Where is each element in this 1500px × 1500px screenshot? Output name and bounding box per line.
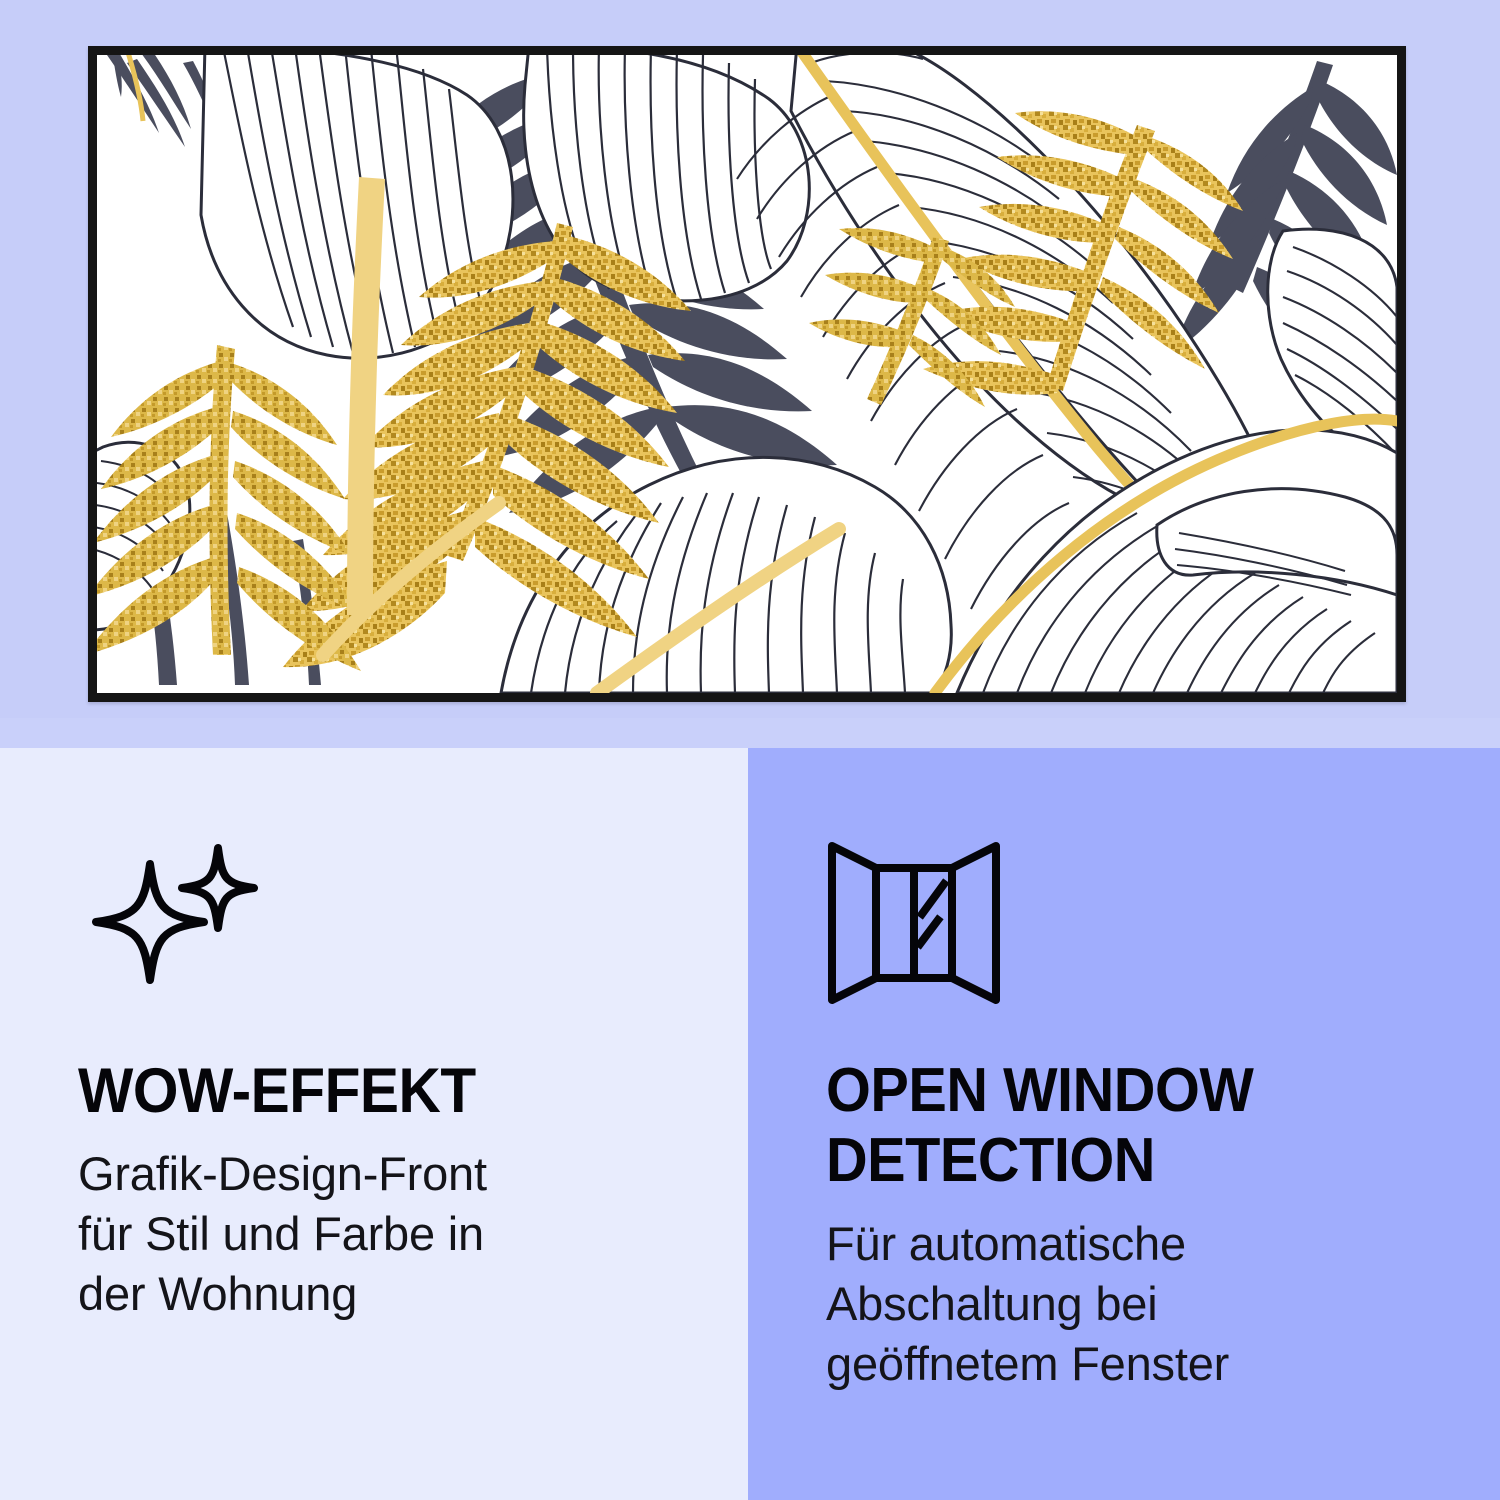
product-feature-infographic: WOW-EFFEKT Grafik-Design-Front für Stil …	[0, 0, 1500, 1500]
feature-title: WOW-EFFEKT	[78, 1056, 629, 1126]
hero-section	[0, 0, 1500, 748]
sparkle-icon	[78, 840, 670, 1010]
feature-panels: WOW-EFFEKT Grafik-Design-Front für Stil …	[0, 748, 1500, 1500]
feature-panel-wow-effekt: WOW-EFFEKT Grafik-Design-Front für Stil …	[0, 748, 748, 1500]
feature-description: Für automatische Abschaltung bei geöffne…	[826, 1214, 1422, 1394]
artwork-canvas	[97, 55, 1397, 693]
feature-description: Grafik-Design-Front für Stil und Farbe i…	[78, 1144, 670, 1324]
framed-artwork	[88, 46, 1406, 702]
open-window-icon	[826, 840, 1422, 1010]
feature-title: OPEN WINDOW DETECTION	[826, 1056, 1380, 1196]
feature-panel-open-window-detection: OPEN WINDOW DETECTION Für automatische A…	[748, 748, 1500, 1500]
hero-bottom-band	[0, 718, 1500, 748]
tropical-leaves-illustration	[97, 55, 1397, 693]
